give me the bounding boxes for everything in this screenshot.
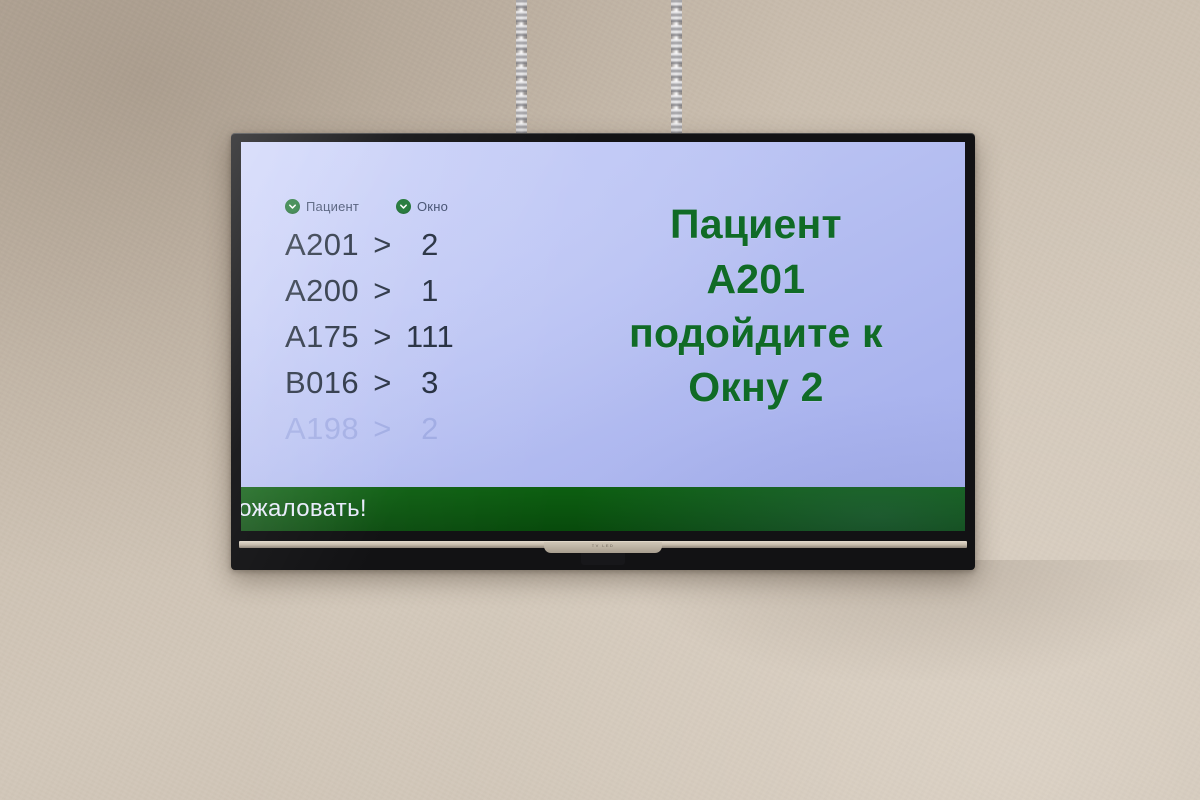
ticket-number: A175 bbox=[285, 314, 369, 360]
chevron-down-circle-icon bbox=[396, 199, 411, 214]
queue-row: A175 > 111 bbox=[285, 314, 567, 360]
arrow-glyph: > bbox=[369, 314, 396, 360]
column-header-patient[interactable]: Пациент bbox=[285, 199, 396, 214]
chevron-down-circle-icon bbox=[285, 199, 300, 214]
queue-list-panel: Пациент Окно A201 > bbox=[241, 142, 567, 487]
ticket-number: B016 bbox=[285, 360, 369, 406]
ticker-text: пожаловать! bbox=[241, 495, 367, 523]
column-header-window[interactable]: Окно bbox=[396, 199, 448, 214]
announcement-line-2: А201 bbox=[706, 253, 805, 306]
window-number: 111 bbox=[396, 314, 464, 360]
suspension-chain-right bbox=[671, 0, 682, 136]
tv-screen-panel: Пациент Окно A201 > bbox=[241, 142, 965, 531]
tv-brand-plate: TV LED bbox=[544, 542, 662, 553]
queue-row: B016 > 3 bbox=[285, 360, 567, 406]
queue-row-faded: A198 > 2 bbox=[285, 406, 567, 452]
tv-ir-receiver bbox=[581, 553, 625, 565]
welcome-ticker-bar: пожаловать! bbox=[241, 487, 965, 531]
ticket-number: A201 bbox=[285, 222, 369, 268]
arrow-glyph: > bbox=[369, 268, 396, 314]
queue-rows: A201 > 2 A200 > 1 A175 > 111 bbox=[285, 222, 567, 451]
column-header-window-label: Окно bbox=[417, 199, 448, 214]
announcement-line-1: Пациент bbox=[670, 198, 842, 251]
window-number: 1 bbox=[396, 268, 464, 314]
tv-brand-mark: TV LED bbox=[592, 543, 614, 548]
arrow-glyph: > bbox=[369, 222, 396, 268]
wall-shadow-band bbox=[640, 560, 1200, 680]
announcement-line-4: Окну 2 bbox=[688, 361, 823, 414]
suspension-chain-left bbox=[516, 0, 527, 136]
window-number: 2 bbox=[396, 222, 464, 268]
column-header-patient-label: Пациент bbox=[306, 199, 359, 214]
window-number: 2 bbox=[396, 406, 464, 452]
screen-content: Пациент Окно A201 > bbox=[241, 142, 965, 487]
ticket-number: A198 bbox=[285, 406, 369, 452]
announcement-line-3: подойдите к bbox=[629, 307, 883, 360]
ticket-number: A200 bbox=[285, 268, 369, 314]
queue-display-television[interactable]: Пациент Окно A201 > bbox=[231, 133, 975, 570]
arrow-glyph: > bbox=[369, 406, 396, 452]
queue-row: A200 > 1 bbox=[285, 268, 567, 314]
announcement-panel: Пациент А201 подойдите к Окну 2 bbox=[567, 142, 965, 487]
queue-row: A201 > 2 bbox=[285, 222, 567, 268]
queue-list-header: Пациент Окно bbox=[285, 199, 567, 214]
arrow-glyph: > bbox=[369, 360, 396, 406]
window-number: 3 bbox=[396, 360, 464, 406]
